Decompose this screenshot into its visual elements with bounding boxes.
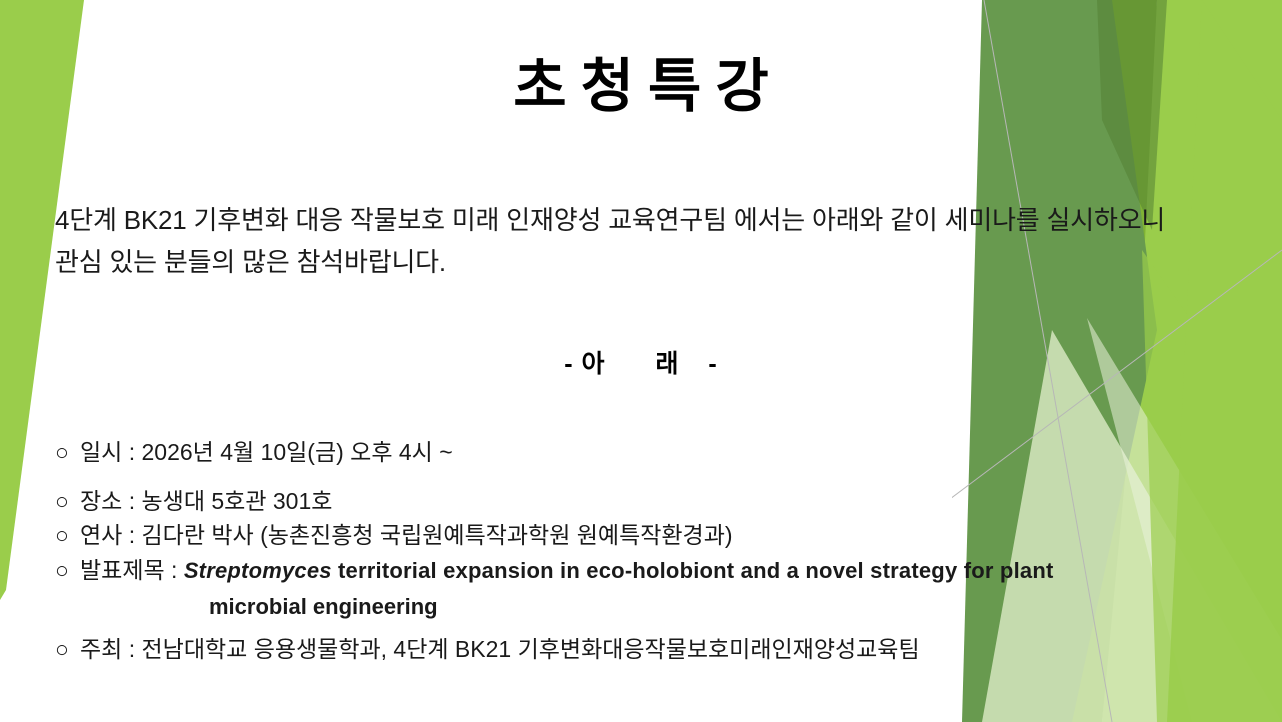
detail-label-talk-title: 발표제목 xyxy=(80,557,165,583)
intro-paragraph: 4단계 BK21 기후변화 대응 작물보호 미래 인재양성 교육연구팀 에서는 … xyxy=(55,199,1180,283)
detail-separator: : xyxy=(129,439,135,465)
bullet-icon: ○ xyxy=(55,556,80,586)
detail-label-speaker: 연사 xyxy=(80,522,122,548)
detail-separator: : xyxy=(171,557,177,583)
detail-label-organizer: 주최 xyxy=(80,636,122,662)
detail-label-location: 장소 xyxy=(80,488,122,514)
below-marker-right-dash: - xyxy=(708,350,717,378)
talk-title-continuation: microbial engineering xyxy=(209,593,1235,622)
bullet-icon: ○ xyxy=(55,487,80,517)
bullet-icon: ○ xyxy=(55,438,80,468)
talk-title-genus: Streptomyces xyxy=(184,558,332,583)
detail-value-location: 농생대 5호관 301호 xyxy=(142,488,333,514)
bullet-icon: ○ xyxy=(55,635,80,665)
detail-list: ○일시 : 2026년 4월 10일(금) 오후 4시 ~ ○장소 : 농생대 … xyxy=(55,438,1235,665)
detail-row-location: ○장소 : 농생대 5호관 301호 xyxy=(55,487,1235,517)
page-title: 초청특강 xyxy=(0,54,1282,121)
presentation-slide: 초청특강 4단계 BK21 기후변화 대응 작물보호 미래 인재양성 교육연구팀… xyxy=(0,0,1282,722)
detail-value-organizer: 전남대학교 응용생물학과, 4단계 BK21 기후변화대응작물보호미래인재양성교… xyxy=(142,636,920,662)
talk-title-rest: territorial expansion in eco-holobiont a… xyxy=(332,558,1054,583)
detail-row-datetime: ○일시 : 2026년 4월 10일(금) 오후 4시 ~ xyxy=(55,438,1235,468)
below-marker: - 아 래 - xyxy=(0,344,1282,380)
detail-label-datetime: 일시 xyxy=(80,439,122,465)
detail-value-speaker: 김다란 박사 (농촌진흥청 국립원예특작과학원 원예특작환경과) xyxy=(142,522,733,548)
below-marker-word: 아 래 xyxy=(582,350,701,378)
detail-value-datetime: 2026년 4월 10일(금) 오후 4시 ~ xyxy=(142,439,453,465)
below-marker-left-dash: - xyxy=(564,350,573,378)
detail-row-talk-title: ○발표제목 : Streptomyces territorial expansi… xyxy=(55,556,1235,621)
detail-separator: : xyxy=(129,522,135,548)
bullet-icon: ○ xyxy=(55,521,80,551)
detail-value-talk-title: Streptomyces territorial expansion in ec… xyxy=(184,558,1054,583)
detail-separator: : xyxy=(129,488,135,514)
detail-row-organizer: ○주최 : 전남대학교 응용생물학과, 4단계 BK21 기후변화대응작물보호미… xyxy=(55,635,1235,665)
detail-row-speaker: ○연사 : 김다란 박사 (농촌진흥청 국립원예특작과학원 원예특작환경과) xyxy=(55,521,1235,551)
detail-separator: : xyxy=(129,636,135,662)
slide-text-layer: 초청특강 4단계 BK21 기후변화 대응 작물보호 미래 인재양성 교육연구팀… xyxy=(0,0,1282,722)
